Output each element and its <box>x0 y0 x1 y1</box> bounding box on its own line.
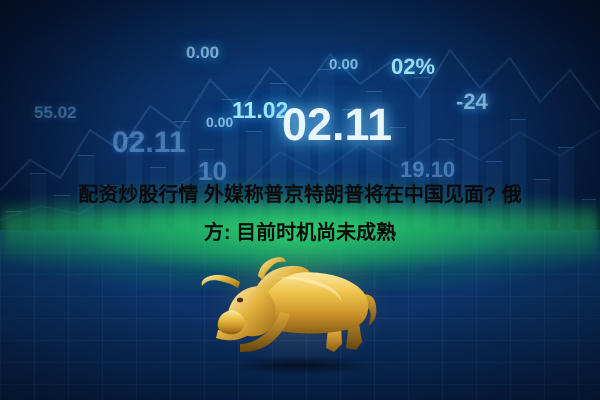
ticker-number: 55.02 <box>34 103 77 123</box>
ticker-number: 0.00 <box>329 56 358 73</box>
headline-line-1: 配资炒股行情 外媒称普京特朗普将在中国见面? 俄 <box>0 176 600 214</box>
ticker-number: -24 <box>456 89 488 115</box>
ticker-number: 0.00 <box>186 43 219 63</box>
ticker-number: 02.11 <box>282 99 392 151</box>
golden-bull-icon <box>196 238 404 370</box>
ticker-number: 02% <box>391 54 435 80</box>
ticker-number: 02.11 <box>112 126 185 160</box>
ticker-number: 0.00 <box>206 114 233 130</box>
news-banner-image: 55.0202.110.0011.020.0002.110.0002%-2410… <box>0 0 600 400</box>
ticker-number: 11.02 <box>232 97 288 124</box>
